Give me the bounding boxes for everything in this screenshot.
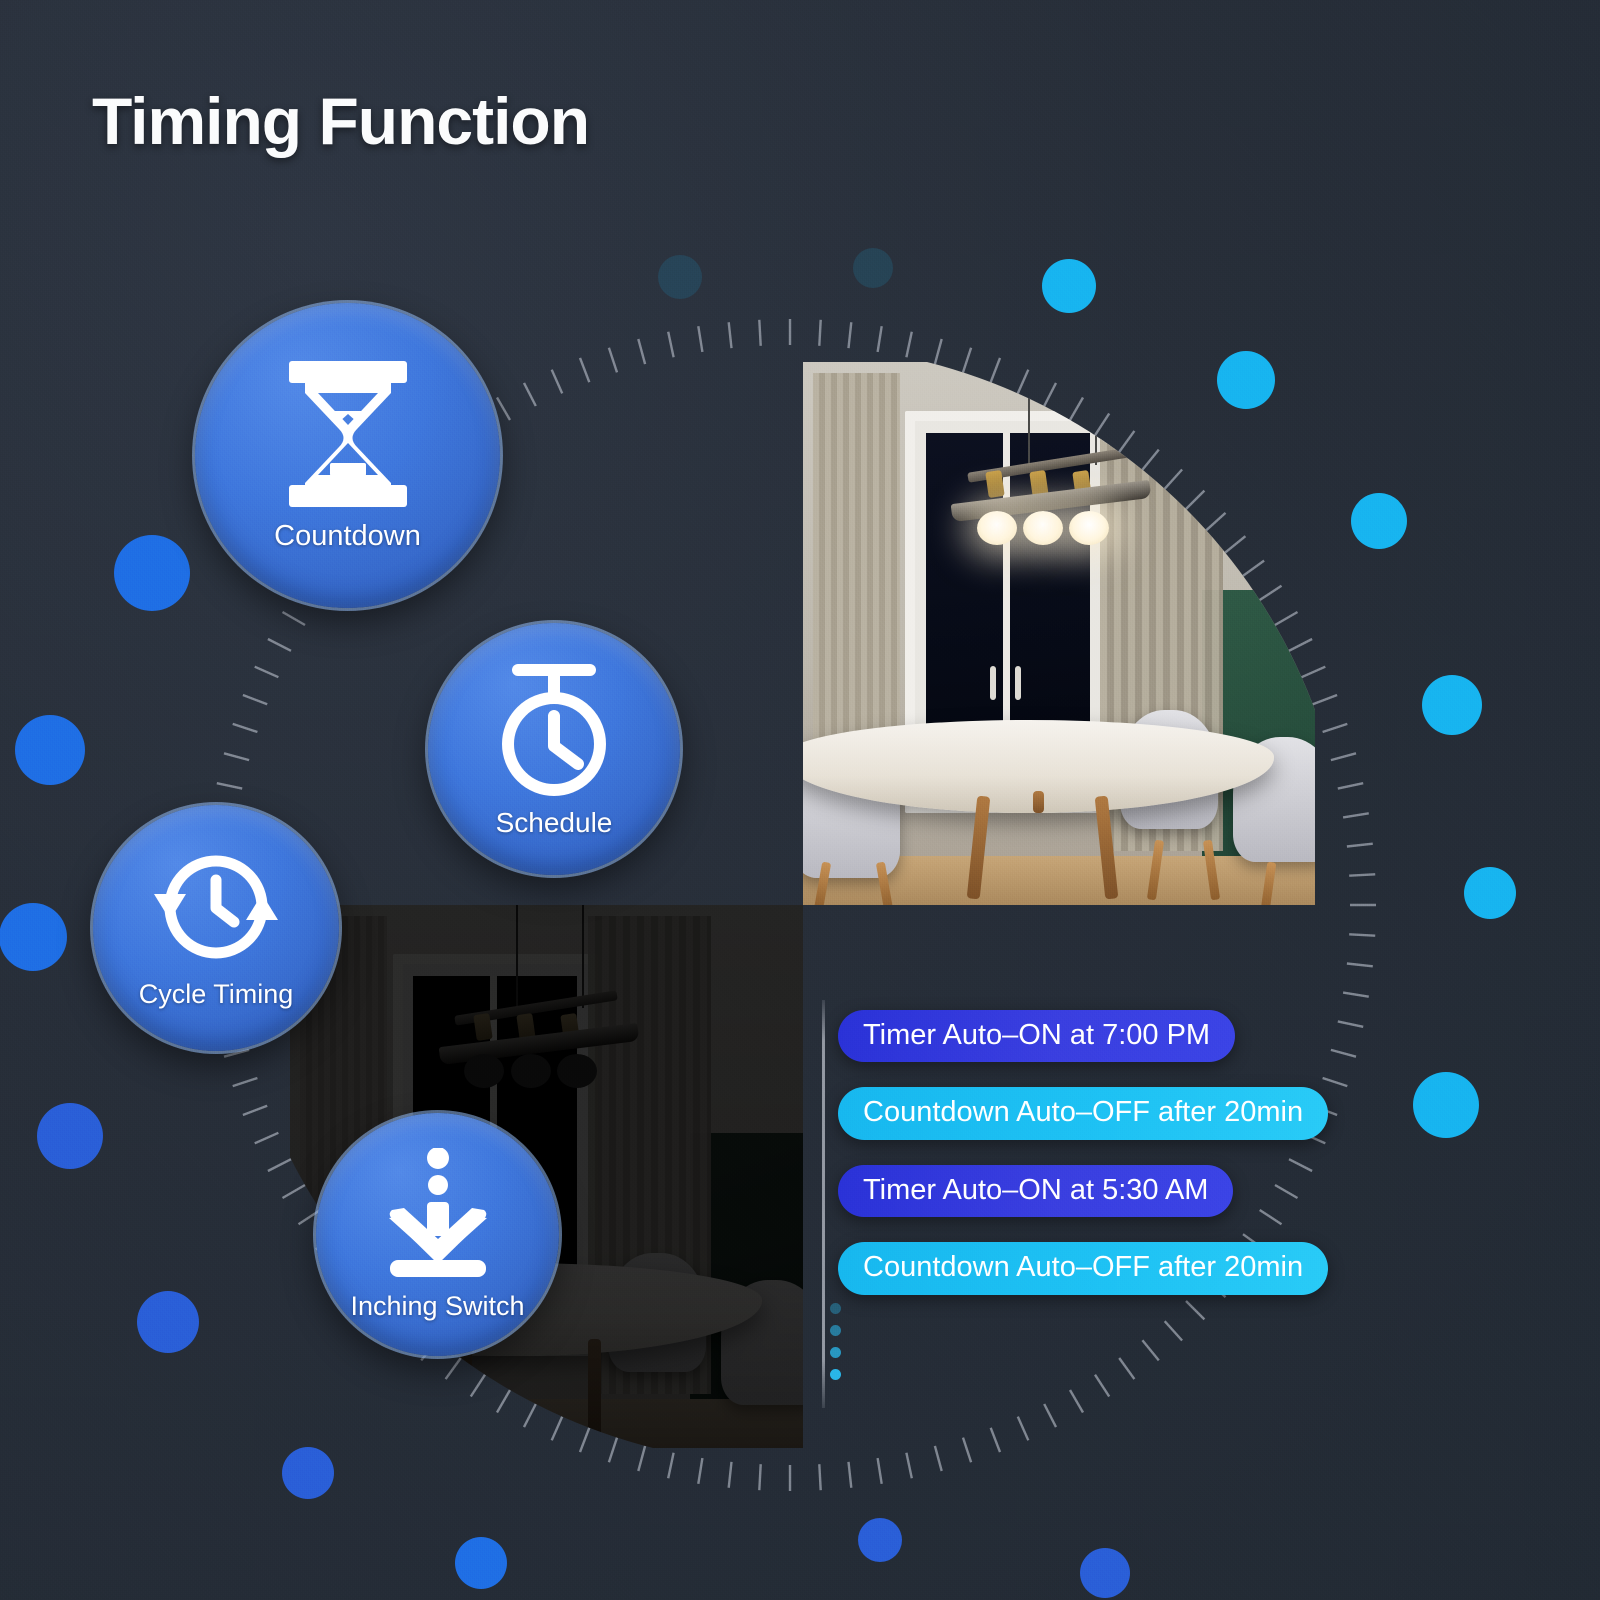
timeline-dot bbox=[830, 1347, 841, 1358]
feature-circle-schedule[interactable]: Schedule bbox=[428, 623, 680, 875]
feature-circle-countdown[interactable]: Countdown bbox=[195, 303, 500, 608]
download-arrow-icon bbox=[377, 1148, 499, 1285]
timeline-axis bbox=[822, 1000, 825, 1408]
stopwatch-icon bbox=[490, 660, 618, 801]
timeline-event-bubble[interactable]: Countdown Auto–OFF after 20min bbox=[838, 1087, 1328, 1139]
cycle-clock-icon bbox=[148, 846, 284, 973]
page-title: Timing Function bbox=[92, 83, 589, 159]
timeline-event-row: Timer Auto–ON at 7:00 PM bbox=[838, 1010, 1378, 1087]
timeline-event-bubble[interactable]: Timer Auto–ON at 5:30 AM bbox=[838, 1165, 1233, 1217]
timeline-event-bubble[interactable]: Countdown Auto–OFF after 20min bbox=[838, 1242, 1328, 1294]
timeline-event-row: Countdown Auto–OFF after 20min bbox=[838, 1242, 1378, 1319]
photo-room-lights-on bbox=[803, 362, 1315, 905]
feature-circle-inching-switch[interactable]: Inching Switch bbox=[316, 1113, 559, 1356]
feature-label-schedule: Schedule bbox=[496, 807, 613, 839]
feature-label-inching-switch: Inching Switch bbox=[350, 1291, 524, 1322]
timeline-event-row: Countdown Auto–OFF after 20min bbox=[838, 1087, 1378, 1164]
timeline-event-list: Timer Auto–ON at 7:00 PMCountdown Auto–O… bbox=[838, 1010, 1378, 1320]
feature-label-cycle-timing: Cycle Timing bbox=[139, 979, 294, 1010]
timeline-dot bbox=[830, 1303, 841, 1314]
feature-label-countdown: Countdown bbox=[274, 520, 421, 553]
timeline-event-row: Timer Auto–ON at 5:30 AM bbox=[838, 1165, 1378, 1242]
hourglass-icon bbox=[285, 359, 411, 514]
timeline-dot bbox=[830, 1369, 841, 1380]
photo-quadrants bbox=[0, 0, 1600, 1600]
timeline-dot bbox=[830, 1325, 841, 1336]
timeline-more-dots bbox=[830, 1303, 841, 1391]
timeline-event-bubble[interactable]: Timer Auto–ON at 7:00 PM bbox=[838, 1010, 1235, 1062]
feature-circle-cycle-timing[interactable]: Cycle Timing bbox=[93, 805, 339, 1051]
poster-canvas: Timing Function Countdown bbox=[0, 0, 1600, 1600]
